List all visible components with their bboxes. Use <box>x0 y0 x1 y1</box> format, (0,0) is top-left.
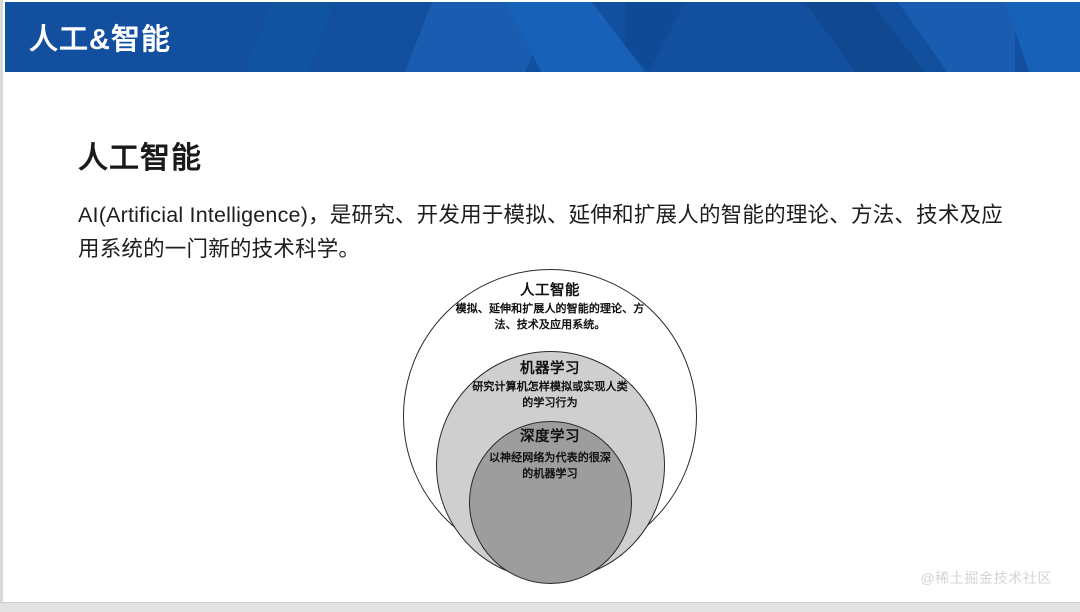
slide-header-banner: 人工&智能 <box>5 2 1080 72</box>
venn-desc-ml: 研究计算机怎样模拟或实现人类的学习行为 <box>470 380 630 411</box>
header-decor-shape-1 <box>245 2 335 72</box>
venn-label-ai: 人工智能 模拟、延伸和扩展人的智能的理论、方法、技术及应用系统。 <box>400 282 700 333</box>
venn-heading-dl: 深度学习 <box>400 428 700 446</box>
venn-label-dl: 深度学习 以神经网络为代表的很深的机器学习 <box>400 428 700 482</box>
venn-heading-ai: 人工智能 <box>400 282 700 300</box>
page-frame-bottom-edge <box>0 602 1080 612</box>
watermark-text: @稀土掘金技术社区 <box>920 568 1052 588</box>
page-frame-left-edge <box>0 0 5 612</box>
nested-venn-diagram: 人工智能 模拟、延伸和扩展人的智能的理论、方法、技术及应用系统。 机器学习 研究… <box>400 264 700 574</box>
venn-heading-ml: 机器学习 <box>400 360 700 378</box>
slide-canvas: 人工&智能 人工智能 AI(Artificial Intelligence)，是… <box>0 0 1080 612</box>
body-paragraph: AI(Artificial Intelligence)，是研究、开发用于模拟、延… <box>78 198 1003 266</box>
venn-label-ml: 机器学习 研究计算机怎样模拟或实现人类的学习行为 <box>400 360 700 411</box>
header-decor-shape-7 <box>1005 2 1080 72</box>
header-title: 人工&智能 <box>29 16 171 58</box>
section-title: 人工智能 <box>78 133 202 177</box>
venn-desc-dl: 以神经网络为代表的很深的机器学习 <box>485 451 615 482</box>
venn-desc-ai: 模拟、延伸和扩展人的智能的理论、方法、技术及应用系统。 <box>445 302 655 333</box>
